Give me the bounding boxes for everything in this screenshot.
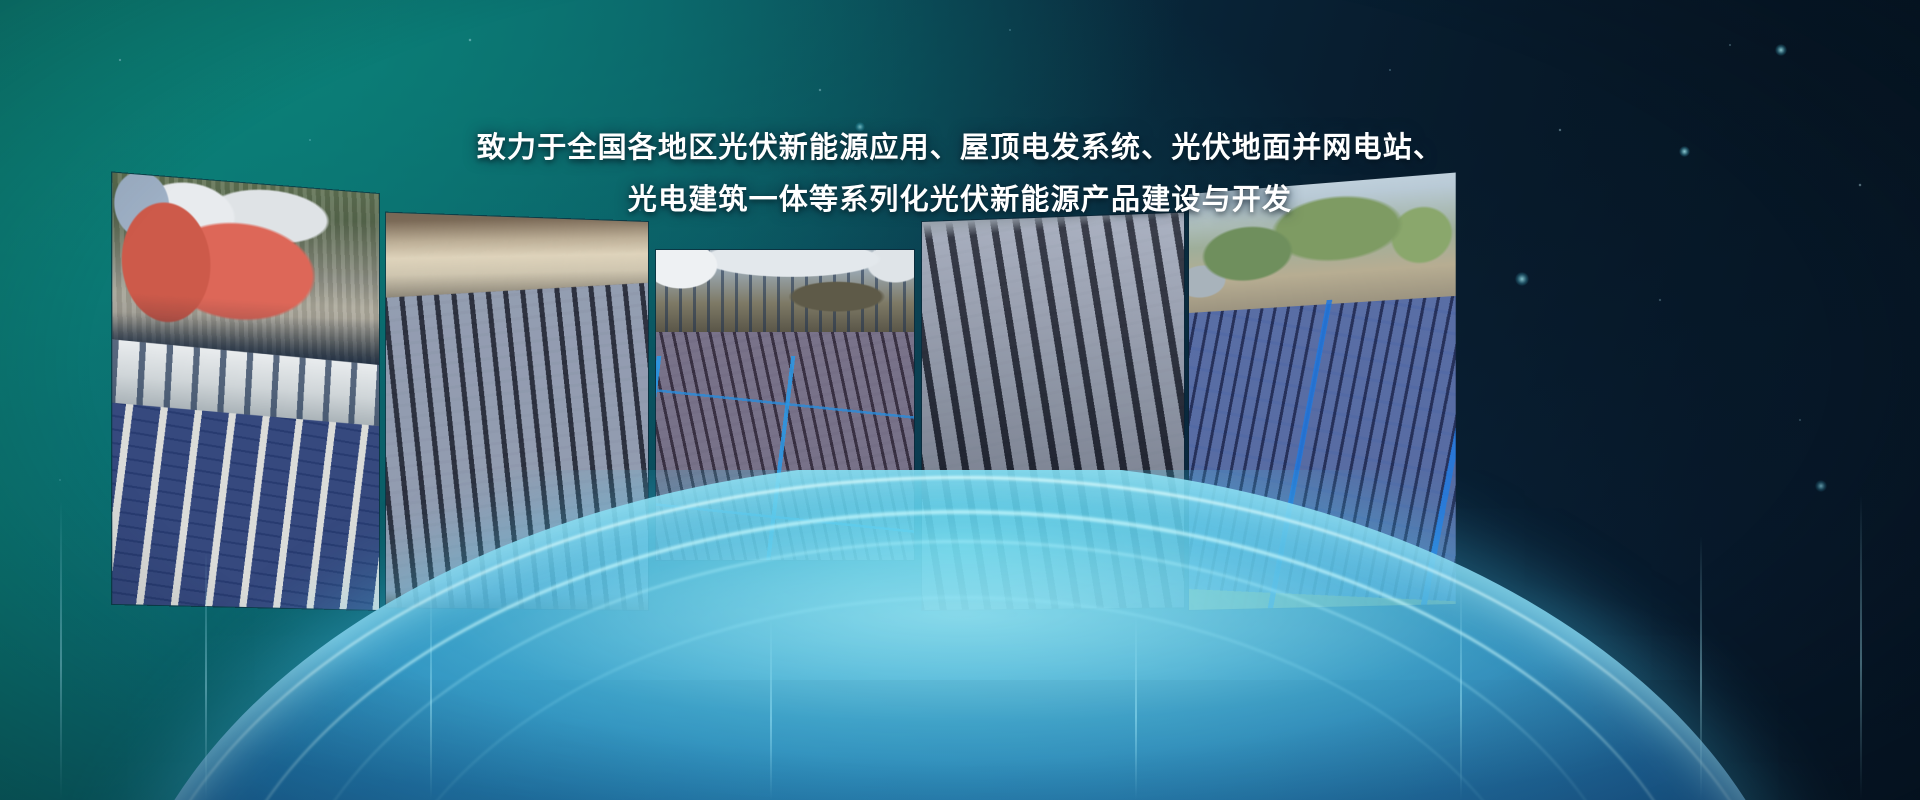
solar-rooftop-aerial-image bbox=[112, 173, 379, 610]
solar-module-rows-image bbox=[922, 213, 1184, 610]
gallery-photo-1 bbox=[112, 173, 379, 610]
solar-ground-array-image bbox=[386, 213, 648, 610]
gallery-photo-4 bbox=[922, 213, 1184, 610]
headline-line-1: 致力于全国各地区光伏新能源应用、屋顶电发系统、光伏地面并网电站、 bbox=[0, 122, 1920, 174]
solar-hero-banner: 致力于全国各地区光伏新能源应用、屋顶电发系统、光伏地面并网电站、 光电建筑一体等… bbox=[0, 0, 1920, 800]
headline-line-2: 光电建筑一体等系列化光伏新能源产品建设与开发 bbox=[0, 174, 1920, 226]
gallery-photo-5 bbox=[1189, 173, 1456, 610]
gallery-photo-3 bbox=[656, 250, 914, 560]
solar-factory-roof-image bbox=[656, 250, 914, 560]
solar-blue-roof-image bbox=[1189, 173, 1456, 610]
gallery-photo-2 bbox=[386, 213, 648, 610]
banner-headline: 致力于全国各地区光伏新能源应用、屋顶电发系统、光伏地面并网电站、 光电建筑一体等… bbox=[0, 122, 1920, 226]
photo-gallery-strip bbox=[0, 0, 1920, 800]
